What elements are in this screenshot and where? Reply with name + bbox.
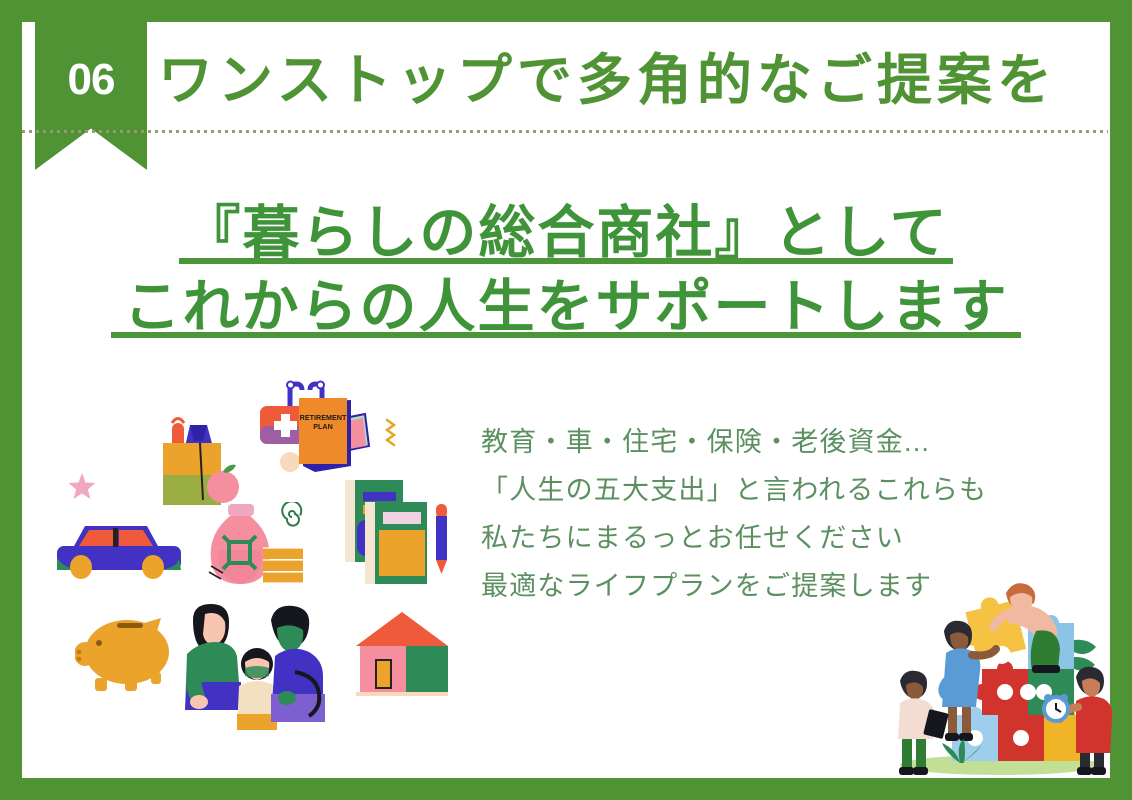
retirement-plan-booklet-icon: RETIREMENT PLAN [295, 394, 405, 484]
slide-root: 06 ワンストップで多角的なご提案を 『暮らしの総合商社』として これからの人生… [0, 0, 1132, 800]
people-assembling-puzzle-illustration [890, 575, 1112, 778]
house-icon [350, 610, 460, 700]
spiral-icon [277, 502, 307, 532]
main-heading-line-2: これからの人生をサポートします [22, 270, 1110, 344]
family-icon [175, 602, 335, 732]
body-copy-line-1: 教育・車・住宅・保険・老後資金... [481, 418, 1081, 466]
car-icon [55, 518, 185, 588]
retirement-plan-label-line1: RETIREMENT [300, 413, 347, 422]
section-number: 06 [68, 58, 115, 102]
main-heading-line-2-text: これからの人生をサポートします [124, 275, 1009, 339]
life-expenses-illustration: RETIREMENT PLAN [55, 370, 485, 760]
main-heading: 『暮らしの総合商社』として これからの人生をサポートします [22, 196, 1110, 344]
grocery-bag-icon [155, 405, 245, 515]
main-heading-line-1: 『暮らしの総合商社』として [22, 196, 1110, 270]
star-icon [67, 472, 97, 502]
piggy-bank-icon [75, 610, 175, 695]
main-heading-underline-1 [179, 258, 953, 264]
main-heading-underline-2 [111, 332, 1021, 338]
body-copy-line-3: 私たちにまるっとお任せください [481, 514, 1081, 562]
books-and-pen-icon [343, 480, 453, 585]
section-title: ワンストップで多角的なご提案を [158, 36, 1108, 114]
body-copy-line-2: 「人生の五大支出」と言われるこれらも [481, 466, 1081, 514]
main-heading-line-1-text: 『暮らしの総合商社』として [183, 201, 948, 265]
header-divider [22, 130, 1108, 133]
retirement-plan-label-line2: PLAN [313, 422, 333, 431]
